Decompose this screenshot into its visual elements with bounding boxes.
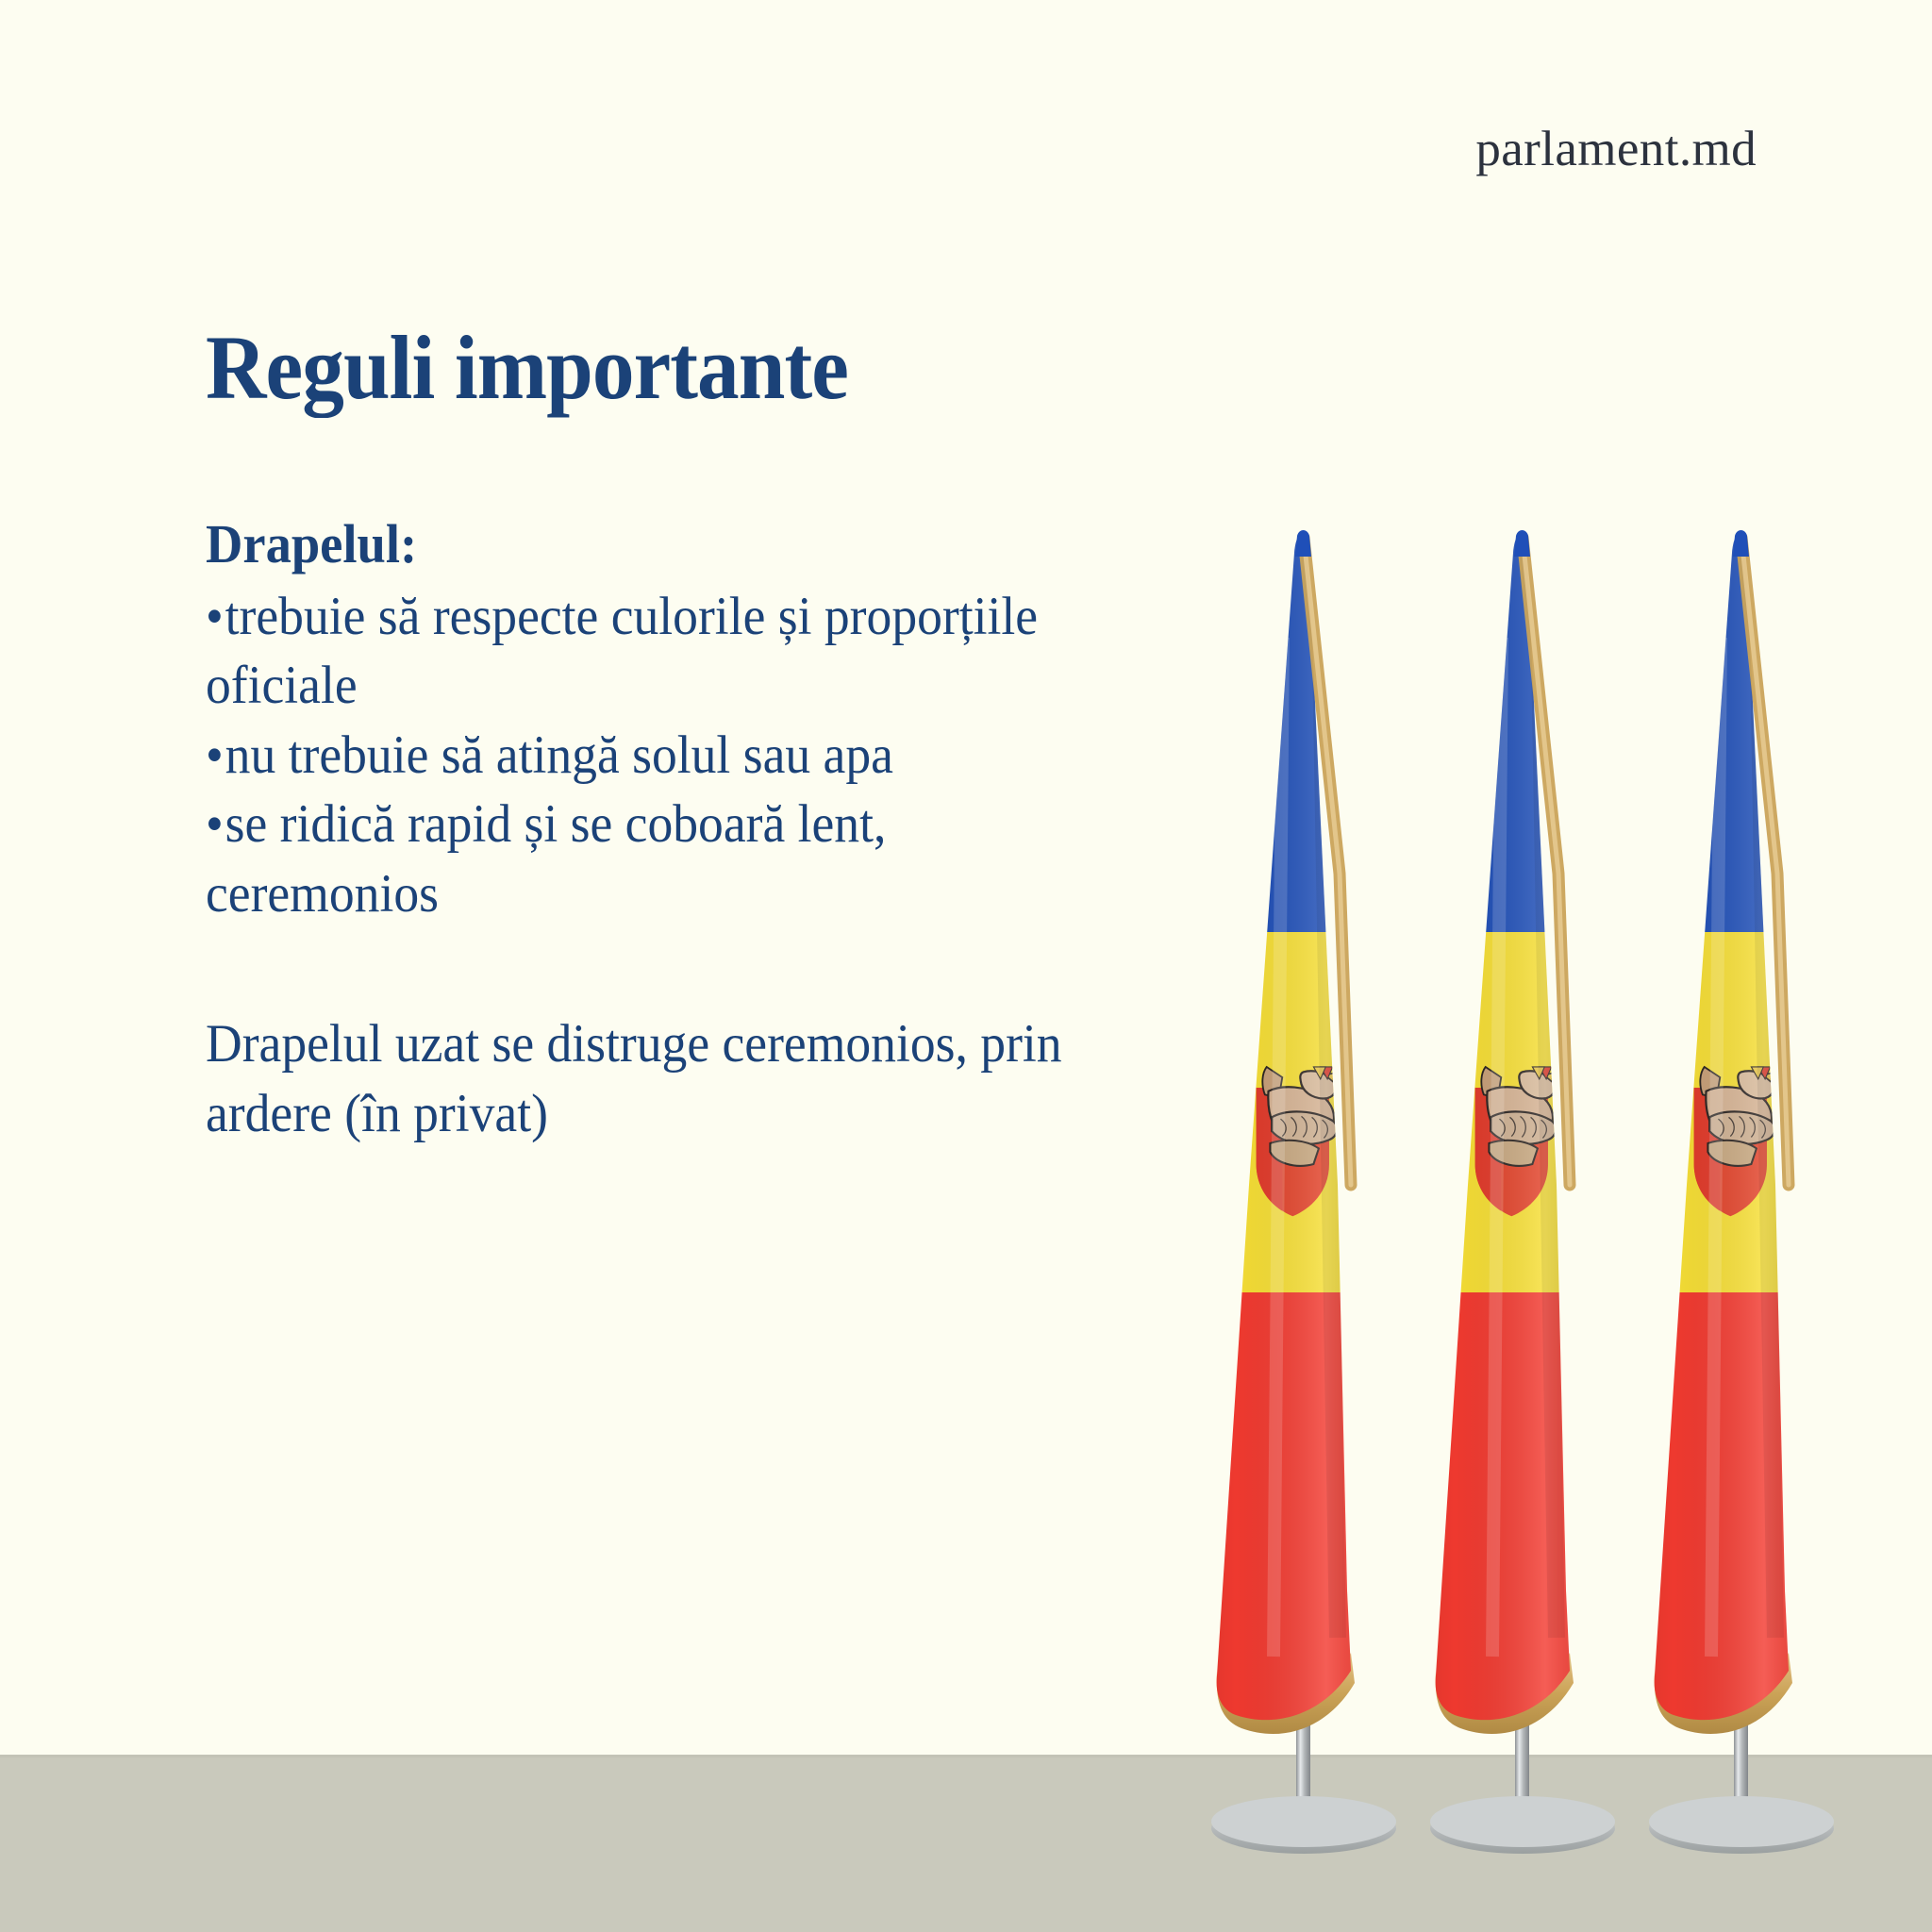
list-item: trebuie să respecte culorile și proporți… (206, 582, 1092, 721)
poster-canvas: parlament.md Reguli importante Drapelul:… (0, 0, 1932, 1932)
text-column: Reguli importante Drapelul: trebuie să r… (206, 321, 1149, 1148)
flag-unit (1600, 525, 1883, 1864)
closing-paragraph: Drapelul uzat se distruge ceremonios, pr… (206, 1009, 1092, 1148)
flag-group (1162, 525, 1932, 1864)
moldova-flag-icon (1600, 525, 1883, 1864)
flag-cloth (1600, 525, 1883, 1864)
flag-tip (1295, 530, 1311, 557)
list-item: nu trebuie să atingă solul sau apa (206, 721, 1092, 791)
flag-tip (1733, 530, 1749, 557)
flag-tip (1514, 530, 1530, 557)
list-item: se ridică rapid și se coboară lent, cere… (206, 790, 1092, 928)
page-title: Reguli importante (206, 321, 1083, 416)
section-label-drapelul: Drapelul: (206, 510, 1092, 578)
site-handle: parlament.md (1475, 121, 1757, 177)
rules-list: trebuie să respecte culorile și proporți… (206, 582, 1149, 929)
